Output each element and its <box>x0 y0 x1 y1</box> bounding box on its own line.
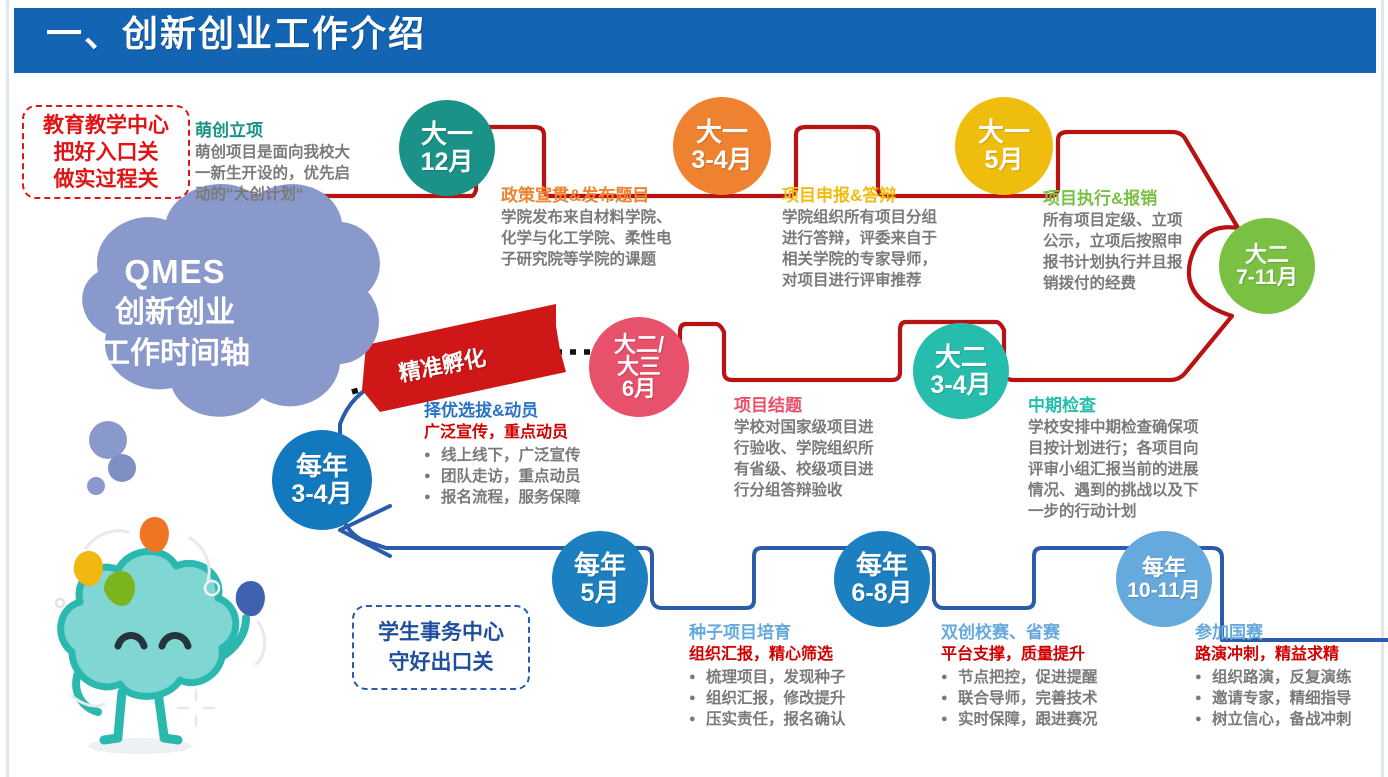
badge-line-2: 7-11月 <box>1236 267 1298 289</box>
step-bullet: 邀请专家，精细指导 <box>1195 688 1388 709</box>
badge-line-2: 5月 <box>581 580 620 606</box>
step-title: 萌创立项 <box>195 120 395 142</box>
badge-y2-mar-apr[interactable]: 大二 3-4月 <box>913 323 1009 419</box>
step-body-line: 进行答辩，评委来自于 <box>782 228 992 249</box>
step-title: 择优选拔&动员 <box>424 400 624 422</box>
badge-annual-may[interactable]: 每年 5月 <box>552 531 648 627</box>
step-body-line: 公示，立项后按照申 <box>1043 231 1228 252</box>
step-bullet: 树立信心，备战冲刺 <box>1195 709 1388 730</box>
badge-line-3: 6月 <box>622 378 656 400</box>
step-body-line: 子研究院等学院的课题 <box>501 249 716 270</box>
step-bullet: 节点把控，促进提醒 <box>941 667 1141 688</box>
callout-education-center: 教育教学中心 把好入口关 做实过程关 <box>22 105 190 199</box>
step-body-line: 萌创项目是面向我校大 <box>195 142 395 163</box>
step-national-contest: 参加国赛 路演冲刺，精益求精 组织路演，反复演练 邀请专家，精细指导 树立信心，… <box>1195 622 1388 730</box>
step-body-line: 销拨付的经费 <box>1043 273 1228 294</box>
infographic-canvas: 一、创新创业工作介绍 <box>0 0 1388 777</box>
badge-y2-jul-nov[interactable]: 大二 7-11月 <box>1219 218 1315 314</box>
step-body-line: 动的“大创计划“ <box>195 184 395 205</box>
step-body-line: 行分组答辩验收 <box>734 480 924 501</box>
badge-line-1: 每年 <box>1142 556 1186 579</box>
step-mid-check: 中期检查 学校安排中期检查确保项 目按计划进行；各项目向 评审小组汇报当前的进展… <box>1028 395 1243 522</box>
step-project-apply: 项目申报&答辩 学院组织所有项目分组 进行答辩，评委来自于 相关学院的专家导师，… <box>782 185 992 291</box>
callout-line-1: 教育教学中心 <box>43 112 169 139</box>
step-subtitle: 组织汇报，精心筛选 <box>689 644 889 666</box>
step-title: 政策宣贯&发布题目 <box>501 185 716 207</box>
step-project-exec: 项目执行&报销 所有项目定级、立项 公示，立项后按照申 报书计划执行并且报 销拨… <box>1043 188 1228 294</box>
badge-annual-oct-nov[interactable]: 每年 10-11月 <box>1116 531 1212 627</box>
step-body: 学校对国家级项目进 行验收、学院组织所 有省级、校级项目进 行分组答辩验收 <box>734 417 924 501</box>
step-subtitle: 广泛宣传，重点动员 <box>424 422 624 444</box>
badge-line-1: 每年 <box>856 552 908 579</box>
badge-line-1: 大一 <box>696 119 748 146</box>
step-bullet: 联合导师，完善技术 <box>941 688 1141 709</box>
step-bullet: 压实责任，报名确认 <box>689 709 889 730</box>
step-title: 项目结题 <box>734 395 924 417</box>
badge-annual-jun-aug[interactable]: 每年 6-8月 <box>834 531 930 627</box>
badge-line-2: 5月 <box>985 147 1024 173</box>
badge-line-1: 大二/ <box>614 334 664 356</box>
step-seed-cultivate: 种子项目培育 组织汇报，精心筛选 梳理项目，发现种子 组织汇报，修改提升 压实责… <box>689 622 889 730</box>
step-body-line: 目按计划进行；各项目向 <box>1028 438 1243 459</box>
badge-line-1: 每年 <box>296 453 348 480</box>
step-bullets: 梳理项目，发现种子 组织汇报，修改提升 压实责任，报名确认 <box>689 667 889 730</box>
step-body: 所有项目定级、立项 公示，立项后按照申 报书计划执行并且报 销拨付的经费 <box>1043 210 1228 294</box>
step-body-line: 一步的行动计划 <box>1028 501 1243 522</box>
step-bullets: 线上线下，广泛宣传 团队走访，重点动员 报名流程，服务保障 <box>424 445 624 508</box>
badge-line-1: 大一 <box>978 119 1030 146</box>
step-body-line: 学院组织所有项目分组 <box>782 207 992 228</box>
step-title: 种子项目培育 <box>689 622 889 644</box>
step-body-line: 报书计划执行并且报 <box>1043 252 1228 273</box>
step-subtitle: 路演冲刺，精益求精 <box>1195 644 1388 666</box>
step-body-line: 所有项目定级、立项 <box>1043 210 1228 231</box>
badge-y1-dec[interactable]: 大一 12月 <box>399 100 495 196</box>
badge-line-1: 大二 <box>1245 243 1289 266</box>
step-body-line: 相关学院的专家导师， <box>782 249 992 270</box>
step-body: 学院组织所有项目分组 进行答辩，评委来自于 相关学院的专家导师， 对项目进行评审… <box>782 207 992 291</box>
step-body-line: 化学与化工学院、柔性电 <box>501 228 716 249</box>
callout-line-1: 学生事务中心 <box>378 618 504 648</box>
callout-line-3: 做实过程关 <box>54 166 159 193</box>
callout-line-2: 守好出口关 <box>389 648 494 678</box>
step-title: 项目执行&报销 <box>1043 188 1228 210</box>
step-bullet: 组织汇报，修改提升 <box>689 688 889 709</box>
badge-line-2: 大三 <box>617 356 661 378</box>
step-bullet: 线上线下，广泛宣传 <box>424 445 624 466</box>
step-bullet: 梳理项目，发现种子 <box>689 667 889 688</box>
step-bullet: 报名流程，服务保障 <box>424 487 624 508</box>
step-title: 中期检查 <box>1028 395 1243 417</box>
step-body: 学院发布来自材料学院、 化学与化工学院、柔性电 子研究院等学院的课题 <box>501 207 716 270</box>
step-body-line: 有省级、校级项目进 <box>734 459 924 480</box>
step-body-line: 学校对国家级项目进 <box>734 417 924 438</box>
callout-line-2: 把好入口关 <box>54 139 159 166</box>
badge-line-2: 3-4月 <box>691 147 752 173</box>
badge-line-2: 3-4月 <box>291 481 352 507</box>
badge-line-1: 大一 <box>421 121 473 148</box>
badge-line-2: 3-4月 <box>930 372 991 398</box>
step-body-line: 评审小组汇报当前的进展 <box>1028 459 1243 480</box>
badge-line-1: 大二 <box>935 344 987 371</box>
step-bullets: 组织路演，反复演练 邀请专家，精细指导 树立信心，备战冲刺 <box>1195 667 1388 730</box>
step-title: 双创校赛、省赛 <box>941 622 1141 644</box>
step-bullet: 团队走访，重点动员 <box>424 466 624 487</box>
badge-line-2: 12月 <box>421 149 474 175</box>
step-body-line: 行验收、学院组织所 <box>734 438 924 459</box>
step-project-close: 项目结题 学校对国家级项目进 行验收、学院组织所 有省级、校级项目进 行分组答辩… <box>734 395 924 501</box>
step-title: 参加国赛 <box>1195 622 1388 644</box>
step-select-mobilize: 择优选拔&动员 广泛宣传，重点动员 线上线下，广泛宣传 团队走访，重点动员 报名… <box>424 400 624 508</box>
step-title: 项目申报&答辩 <box>782 185 992 207</box>
badge-line-1: 每年 <box>574 552 626 579</box>
step-bullets: 节点把控，促进提醒 联合导师，完善技术 实时保障，跟进赛况 <box>941 667 1141 730</box>
step-bullet: 实时保障，跟进赛况 <box>941 709 1141 730</box>
step-meng-chuang: 萌创立项 萌创项目是面向我校大 一新生开设的，优先启 动的“大创计划“ <box>195 120 395 205</box>
step-policy-release: 政策宣贯&发布题目 学院发布来自材料学院、 化学与化工学院、柔性电 子研究院等学… <box>501 185 716 270</box>
step-body-line: 一新生开设的，优先启 <box>195 163 395 184</box>
step-body-line: 学院发布来自材料学院、 <box>501 207 716 228</box>
step-bullet: 组织路演，反复演练 <box>1195 667 1388 688</box>
badge-line-2: 10-11月 <box>1127 580 1201 602</box>
badge-annual-mar-apr[interactable]: 每年 3-4月 <box>272 430 372 530</box>
callout-student-affairs: 学生事务中心 守好出口关 <box>352 605 530 690</box>
step-subtitle: 平台支撑，质量提升 <box>941 644 1141 666</box>
step-body: 学校安排中期检查确保项 目按计划进行；各项目向 评审小组汇报当前的进展 情况、遇… <box>1028 417 1243 522</box>
badge-line-2: 6-8月 <box>851 580 912 606</box>
step-school-province-contest: 双创校赛、省赛 平台支撑，质量提升 节点把控，促进提醒 联合导师，完善技术 实时… <box>941 622 1141 730</box>
step-body-line: 学校安排中期检查确保项 <box>1028 417 1243 438</box>
step-body: 萌创项目是面向我校大 一新生开设的，优先启 动的“大创计划“ <box>195 142 395 205</box>
step-body-line: 对项目进行评审推荐 <box>782 270 992 291</box>
brain-mascot <box>56 517 265 754</box>
badge-y1-mar-apr[interactable]: 大一 3-4月 <box>673 97 771 195</box>
badge-y1-may[interactable]: 大一 5月 <box>955 97 1053 195</box>
step-body-line: 情况、遇到的挑战以及下 <box>1028 480 1243 501</box>
